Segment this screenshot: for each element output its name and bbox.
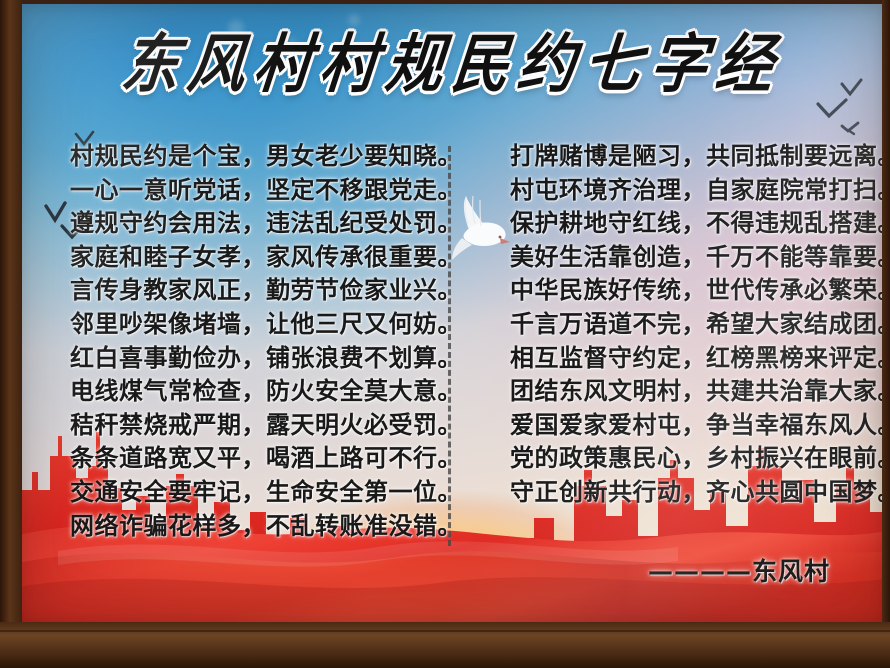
- verse-line: 中华民族好传统，世代传承必繁荣。: [510, 274, 886, 308]
- verse-line: 相互监督守约定，红榜黑榜来评定。: [510, 342, 886, 376]
- frame-edge-bottom: [0, 622, 890, 668]
- verse-line: 村规民约是个宝，男女老少要知晓。: [70, 140, 462, 174]
- verse-line: 保护耕地守红线，不得违规乱搭建。: [510, 207, 886, 241]
- bokeh-dot: [348, 14, 360, 26]
- verse-line: 团结东风文明村，共建共治靠大家。: [510, 375, 886, 409]
- frame-edge-left: [0, 0, 22, 668]
- page-title: 东风村村规民约七字经: [110, 32, 793, 99]
- verse-column-right: 打牌赌博是陋习，共同抵制要远离。 村屯环境齐治理，自家庭院常打扫。 保护耕地守红…: [476, 140, 886, 550]
- verse-line: 红白喜事勤俭办，铺张浪费不划算。: [70, 342, 462, 376]
- framed-poster-photo: 东风村村规民约七字经: [0, 0, 890, 668]
- verse-line: 一心一意听党话，坚定不移跟党走。: [70, 174, 462, 208]
- verse-line: 条条道路宽又平，喝酒上路可不行。: [70, 442, 462, 476]
- verse-line: 交通安全要牢记，生命安全第一位。: [70, 476, 462, 510]
- verse-column-left: 村规民约是个宝，男女老少要知晓。 一心一意听党话，坚定不移跟党走。 遵规守约会用…: [18, 140, 476, 550]
- verse-area: 村规民约是个宝，男女老少要知晓。 一心一意听党话，坚定不移跟党走。 遵规守约会用…: [18, 140, 886, 550]
- verse-line: 家庭和睦子女孝，家风传承很重要。: [70, 241, 462, 275]
- poster-banner: 东风村村规民约七字经: [18, 4, 886, 626]
- verse-line: 打牌赌博是陋习，共同抵制要远离。: [510, 140, 886, 174]
- poster-title-wrapper: 东风村村规民约七字经: [18, 36, 886, 96]
- verse-line: 秸秆禁烧戒严期，露天明火必受罚。: [70, 409, 462, 443]
- verse-line: 党的政策惠民心，乡村振兴在眼前。: [510, 442, 886, 476]
- signature-attribution: ————东风村: [648, 552, 830, 588]
- verse-line: 爱国爱家爱村屯，争当幸福东风人。: [510, 409, 886, 443]
- verse-line: 千言万语道不完，希望大家结成团。: [510, 308, 886, 342]
- verse-line: 遵规守约会用法，违法乱纪受处罚。: [70, 207, 462, 241]
- verse-line: 网络诈骗花样多，不乱转账准没错。: [70, 510, 462, 544]
- verse-line: 言传身教家风正，勤劳节俭家业兴。: [70, 274, 462, 308]
- verse-line: 守正创新共行动，齐心共圆中国梦。: [510, 476, 886, 510]
- verse-line: 电线煤气常检查，防火安全莫大意。: [70, 375, 462, 409]
- verse-line: 邻里吵架像堵墙，让他三尺又何妨。: [70, 308, 462, 342]
- frame-edge-right: [882, 0, 890, 668]
- verse-line: 美好生活靠创造，千万不能等靠要。: [510, 241, 886, 275]
- verse-line: 村屯环境齐治理，自家庭院常打扫。: [510, 174, 886, 208]
